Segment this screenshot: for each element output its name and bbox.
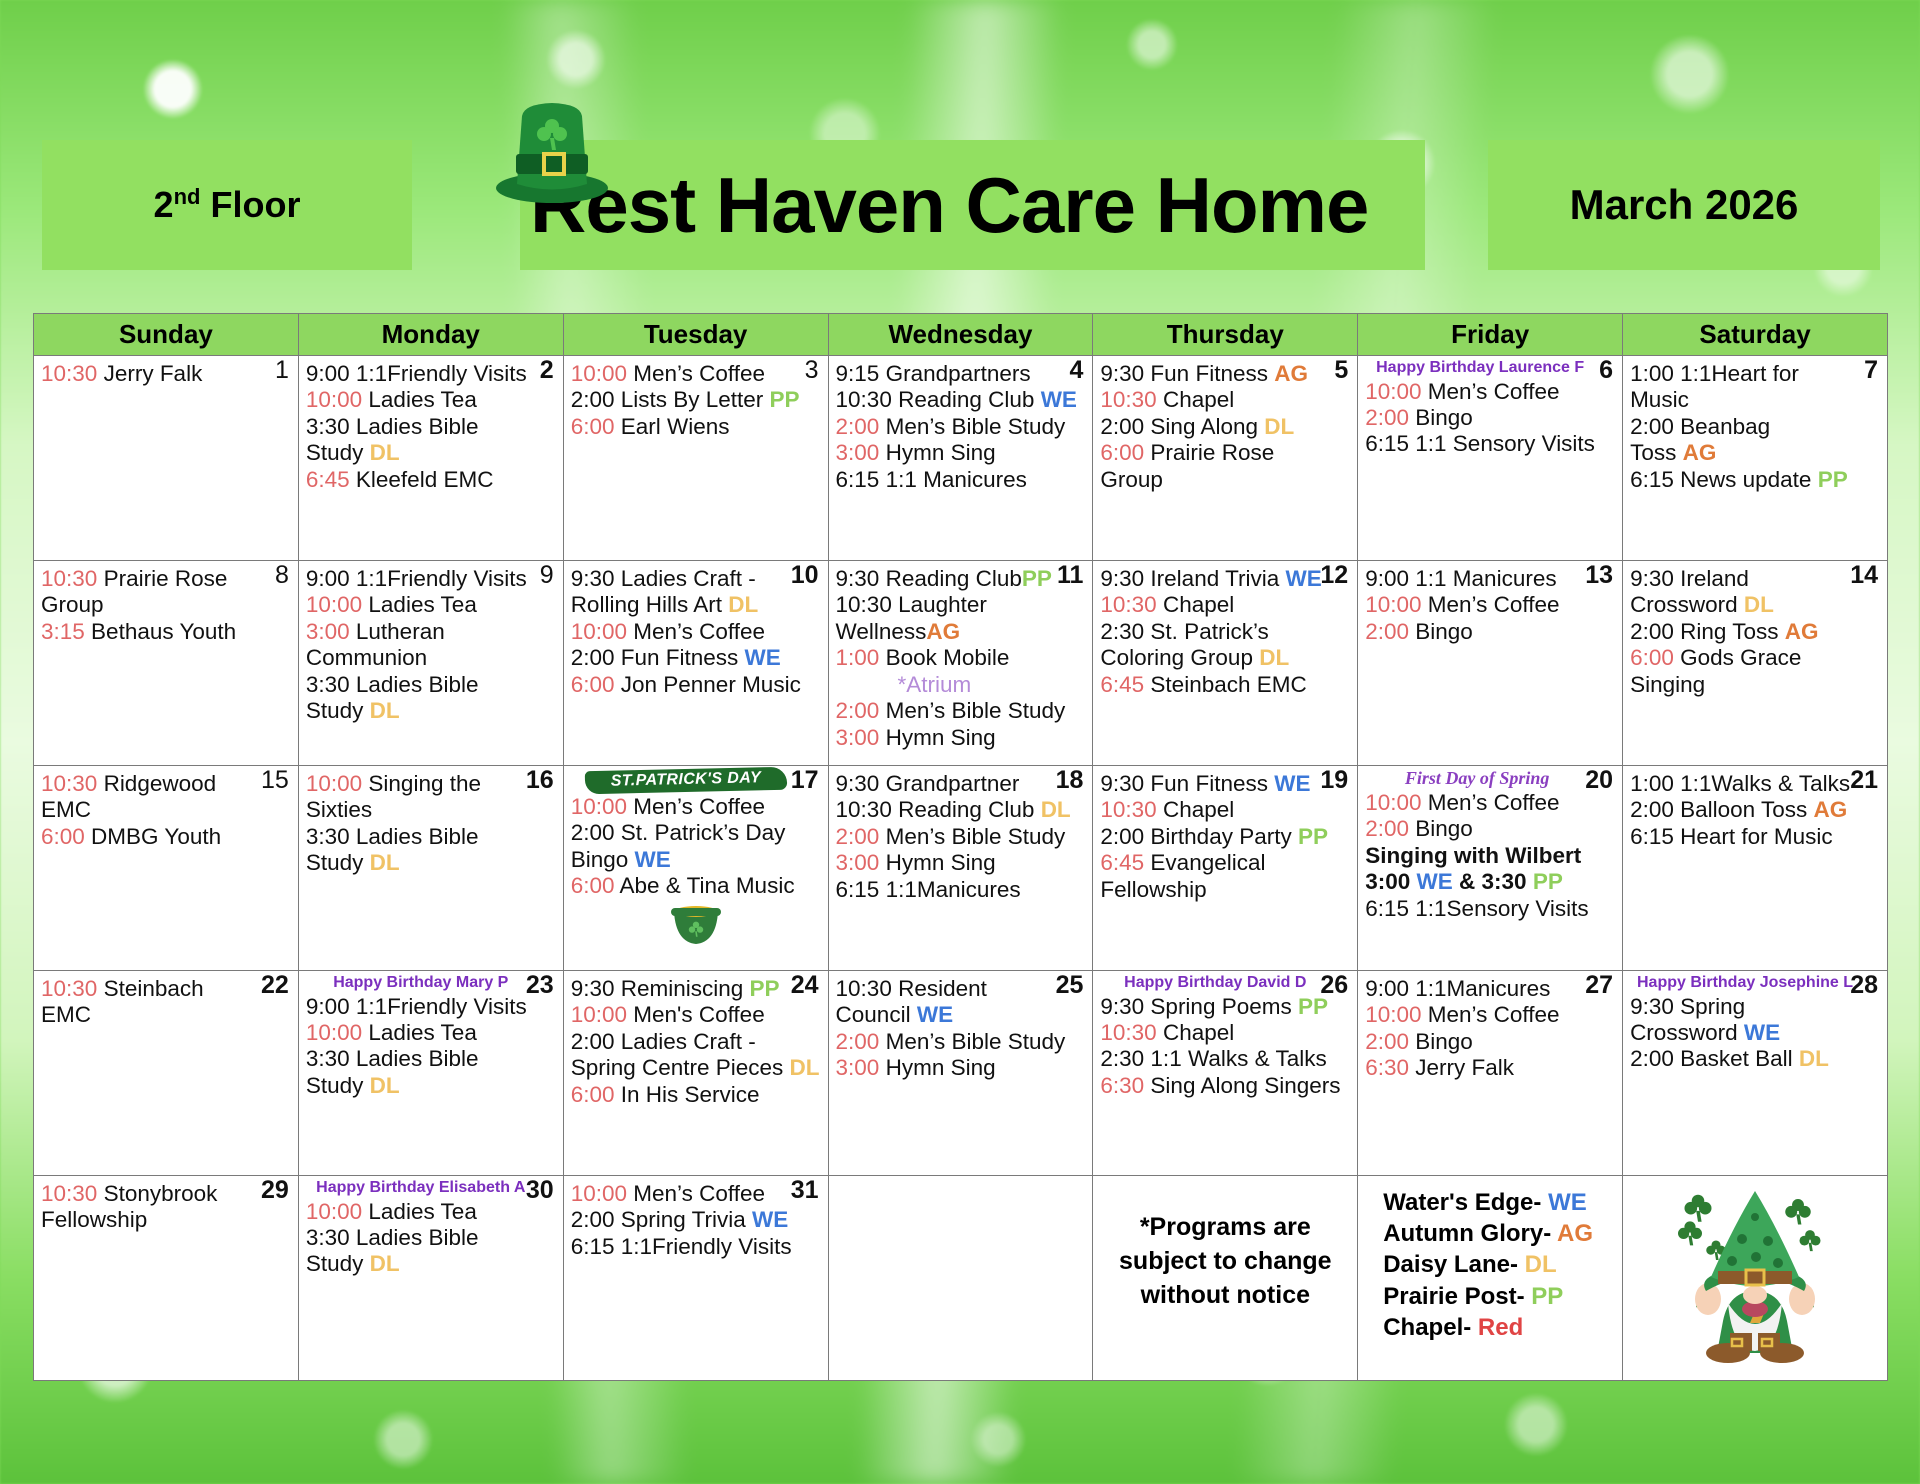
event-label: Sing Along Singers: [1144, 1073, 1340, 1098]
event-item: Council WE: [836, 1002, 1086, 1028]
event-item: 2:30 St. Patrick’s: [1100, 619, 1350, 645]
event-item: Toss AG: [1630, 440, 1880, 466]
event-label: Jon Penner Music: [614, 672, 800, 697]
event-time: 2:30: [1100, 619, 1144, 644]
event-time: 10:00: [306, 1199, 362, 1224]
event-time: 9:00: [306, 566, 350, 591]
event-time: 3:00: [836, 850, 880, 875]
calendar-day-cell-20[interactable]: First Day of Spring2010:00 Men’s Coffee2…: [1358, 766, 1623, 971]
calendar-week-row: 2210:30 Steinbach EMCHappy Birthday Mary…: [34, 971, 1888, 1176]
day-number: 26: [1320, 973, 1348, 998]
event-item: 10:30 Prairie Rose: [41, 566, 291, 592]
calendar-day-cell-1[interactable]: 110:30 Jerry Falk: [34, 356, 299, 561]
event-time: 3:15: [41, 619, 85, 644]
event-item: 10:30 Chapel: [1100, 797, 1350, 823]
calendar-day-cell-14[interactable]: 149:30 Ireland Crossword DL2:00 Ring Tos…: [1623, 561, 1888, 766]
event-item: 2:00 Men’s Bible Study: [836, 1029, 1086, 1055]
day-number: 24: [791, 973, 819, 998]
event-time: 10:00: [571, 1002, 627, 1027]
event-time: 6:00: [1630, 645, 1674, 670]
event-time: 2:00: [1630, 619, 1674, 644]
event-item: 9:00 1:1Friendly Visits: [306, 361, 556, 387]
day-number: 30: [526, 1178, 554, 1203]
event-time: 9:00: [306, 994, 350, 1019]
event-location-code: DL: [1264, 414, 1294, 439]
calendar-day-cell-16[interactable]: 1610:00 Singing the Sixties3:30 Ladies B…: [298, 766, 563, 971]
event-label: Bingo: [1409, 1029, 1473, 1054]
event-location-code: PP: [1818, 467, 1848, 492]
event-location-code: DL: [1259, 645, 1289, 670]
calendar-week-row: 2910:30 Stonybrook FellowshipHappy Birth…: [34, 1176, 1888, 1381]
day-number: 8: [275, 563, 289, 588]
event-item: 10:00 Ladies Tea: [306, 1020, 556, 1046]
notice-cell[interactable]: *Programs are subject to change without …: [1093, 1176, 1358, 1381]
event-item: 6:00 Prairie Rose: [1100, 440, 1350, 466]
calendar-day-cell-31[interactable]: 3110:00 Men’s Coffee2:00 Spring Trivia W…: [563, 1176, 828, 1381]
legend-place: Autumn Glory-: [1383, 1220, 1557, 1247]
event-location-code: WE: [1744, 1020, 1780, 1045]
event-item: 10:30 Chapel: [1100, 592, 1350, 618]
event-list: 10:30 Prairie Rose Group3:15 Bethaus You…: [41, 566, 291, 645]
calendar-day-cell-21[interactable]: 211:00 1:1Walks & Talks2:00 Balloon Toss…: [1623, 766, 1888, 971]
event-label: Toss: [1630, 440, 1683, 465]
calendar-day-cell-29[interactable]: 2910:30 Stonybrook Fellowship: [34, 1176, 299, 1381]
event-time: 6:15: [1630, 467, 1674, 492]
event-list: 10:30 Resident Council WE2:00 Men’s Bibl…: [836, 976, 1086, 1082]
st-patricks-day-badge: ST.PATRICK'S DAY: [584, 767, 786, 795]
event-item: 10:30 Laughter: [836, 592, 1086, 618]
event-time: 10:30: [41, 1181, 97, 1206]
event-label: Earl Wiens: [614, 414, 729, 439]
event-label: Reading Club: [892, 387, 1041, 412]
calendar-day-cell-8[interactable]: 810:30 Prairie Rose Group3:15 Bethaus Yo…: [34, 561, 299, 766]
event-item: 10:00 Men’s Coffee: [1365, 1002, 1615, 1028]
event-time: 9:00: [306, 361, 350, 386]
calendar-week-row: 110:30 Jerry Falk29:00 1:1Friendly Visit…: [34, 356, 1888, 561]
event-list: 9:00 1:1Manicures10:00 Men’s Coffee2:00 …: [1365, 976, 1615, 1082]
event-label: In His Service: [614, 1082, 759, 1107]
empty-cell[interactable]: [828, 1176, 1093, 1381]
day-number: 11: [1057, 563, 1083, 588]
event-time: 2:00: [1100, 414, 1144, 439]
event-list: 9:00 1:1Friendly Visits10:00 Ladies Tea3…: [306, 994, 556, 1100]
event-location-code: PP: [1298, 824, 1328, 849]
event-location-code: DL: [790, 1055, 820, 1080]
event-label: Men’s Coffee: [1422, 379, 1560, 404]
event-label: Ladies Tea: [362, 592, 477, 617]
event-item: Crossword DL: [1630, 592, 1880, 618]
event-label: 1:1 Manicures: [1409, 566, 1557, 591]
calendar-day-cell-10[interactable]: 109:30 Ladies Craft - Rolling Hills Art …: [563, 561, 828, 766]
calendar-day-cell-26[interactable]: Happy Birthday David D269:30 Spring Poem…: [1093, 971, 1358, 1176]
day-number: 5: [1334, 358, 1348, 383]
event-list: 9:30 Fun Fitness WE10:30 Chapel2:00 Birt…: [1100, 771, 1350, 903]
calendar-day-cell-25[interactable]: 2510:30 Resident Council WE2:00 Men’s Bi…: [828, 971, 1093, 1176]
calendar-header: 2nd Floor Rest Haven Care Home March 202…: [0, 140, 1920, 275]
event-label: Ladies Tea: [362, 387, 477, 412]
event-item: 10:30 Chapel: [1100, 387, 1350, 413]
weekday-header-saturday: Saturday: [1623, 314, 1888, 356]
event-location-code: WE: [635, 847, 671, 872]
event-item: 3:00 Lutheran: [306, 619, 556, 645]
event-label: Ladies Bible: [350, 414, 479, 439]
programs-notice: *Programs are subject to change without …: [1100, 1179, 1350, 1312]
event-label: Bingo: [1409, 405, 1473, 430]
event-item: WellnessAG: [836, 619, 1086, 645]
event-list: 10:00 Men’s Coffee2:00 BingoSinging with…: [1365, 790, 1615, 922]
event-label: Ireland: [1674, 566, 1749, 591]
event-item: 3:00 WE & 3:30 PP: [1365, 869, 1615, 895]
event-time: 10:30: [836, 387, 892, 412]
event-list: 10:00 Men’s Coffee2:00 Bingo6:15 1:1 Sen…: [1365, 379, 1615, 458]
event-item: 10:30 Ridgewood: [41, 771, 291, 797]
event-time: 2:00: [1630, 797, 1674, 822]
event-item: 6:15 1:1Sensory Visits: [1365, 896, 1615, 922]
event-item: 10:00 Men’s Coffee: [571, 619, 821, 645]
event-location-code: DL: [370, 1073, 400, 1098]
event-time: 2:00: [1630, 414, 1674, 439]
event-time: 6:00: [571, 1082, 615, 1107]
event-label: 1:1 Manicures: [879, 467, 1027, 492]
event-time: 6:45: [1100, 672, 1144, 697]
calendar-day-cell-17[interactable]: ST.PATRICK'S DAY1710:00 Men’s Coffee2:00…: [563, 766, 828, 971]
calendar-day-cell-19[interactable]: 199:30 Fun Fitness WE10:30 Chapel2:00 Bi…: [1093, 766, 1358, 971]
location-legend: Water's Edge- WEAutumn Glory- AGDaisy La…: [1365, 1179, 1615, 1343]
event-time: 10:30: [41, 976, 97, 1001]
event-time: 3:00: [836, 725, 880, 750]
day-number: 4: [1069, 358, 1083, 383]
event-item: 9:30 Ireland Trivia WE: [1100, 566, 1350, 592]
event-item: 6:00 In His Service: [571, 1082, 821, 1108]
event-location-code: DL: [1041, 797, 1071, 822]
calendar-day-cell-15[interactable]: 1510:30 Ridgewood EMC6:00 DMBG Youth: [34, 766, 299, 971]
event-time: 3:30: [306, 824, 350, 849]
calendar-day-cell-30[interactable]: Happy Birthday Elisabeth A3010:00 Ladies…: [298, 1176, 563, 1381]
calendar-day-cell-22[interactable]: 2210:30 Steinbach EMC: [34, 971, 299, 1176]
event-item: Fellowship: [1100, 877, 1350, 903]
event-label: Reading Club: [879, 566, 1022, 591]
event-label: 1:1Walks & Talks: [1674, 771, 1850, 796]
day-number: 3: [805, 358, 819, 383]
event-item: 10:00 Men’s Coffee: [571, 1181, 821, 1207]
event-item: Singing with Wilbert: [1365, 843, 1615, 869]
day-number: 10: [791, 563, 819, 588]
event-label: Men’s Coffee: [1422, 592, 1560, 617]
event-label: EMC: [41, 797, 91, 822]
day-number: 29: [261, 1178, 289, 1203]
event-location-code: DL: [370, 850, 400, 875]
event-item: 6:45 Kleefeld EMC: [306, 467, 556, 493]
event-time: 10:00: [306, 1020, 362, 1045]
event-item: Study DL: [306, 850, 556, 876]
event-time: 10:30: [1100, 592, 1156, 617]
weekday-header-wednesday: Wednesday: [828, 314, 1093, 356]
event-item: 10:30 Stonybrook: [41, 1181, 291, 1207]
event-time: 3:30: [306, 1225, 350, 1250]
calendar-day-cell-13[interactable]: 139:00 1:1 Manicures10:00 Men’s Coffee2:…: [1358, 561, 1623, 766]
event-label: Lists By Letter: [614, 387, 769, 412]
event-item: 6:30 Jerry Falk: [1365, 1055, 1615, 1081]
day-number: 27: [1585, 973, 1613, 998]
event-time: 2:00: [836, 698, 880, 723]
birthday-note: Happy Birthday Mary P: [306, 974, 556, 992]
event-location-code: PP: [750, 976, 780, 1001]
event-item: 6:00 Gods Grace: [1630, 645, 1880, 671]
calendar-day-cell-18[interactable]: 189:30 Grandpartner10:30 Reading Club DL…: [828, 766, 1093, 971]
calendar-day-cell-23[interactable]: Happy Birthday Mary P239:00 1:1Friendly …: [298, 971, 563, 1176]
event-time: 10:00: [571, 1181, 627, 1206]
event-label: 1:1Friendly Visits: [614, 1234, 791, 1259]
event-list: 10:00 Men’s Coffee2:00 St. Patrick’s Day…: [571, 794, 821, 900]
event-time: 6:15: [1365, 896, 1409, 921]
legend-code: DL: [1525, 1251, 1557, 1278]
birthday-note: Happy Birthday Laurence F: [1365, 359, 1615, 377]
event-item: 2:00 Bingo: [1365, 816, 1615, 842]
event-label: Spring Trivia: [614, 1207, 752, 1232]
weekday-header-friday: Friday: [1358, 314, 1623, 356]
event-item: 2:00 Ring Toss AG: [1630, 619, 1880, 645]
event-item: 10:30 Resident: [836, 976, 1086, 1002]
event-label: Grandpartners: [879, 361, 1030, 386]
calendar-day-cell-7[interactable]: 71:00 1:1Heart for Music2:00 Beanbag Tos…: [1623, 356, 1888, 561]
event-label: 1:1Manicures: [1409, 976, 1550, 1001]
event-label: Men’s Coffee: [627, 1181, 765, 1206]
event-label: Hymn Sing: [879, 440, 995, 465]
event-time: 9:00: [1365, 976, 1409, 1001]
event-item: 2:00 Lists By Letter PP: [571, 387, 821, 413]
weekday-header-monday: Monday: [298, 314, 563, 356]
weekday-header-row: SundayMondayTuesdayWednesdayThursdayFrid…: [34, 314, 1888, 356]
event-item: 2:00 Balloon Toss AG: [1630, 797, 1880, 823]
event-item: 3:15 Bethaus Youth: [41, 619, 291, 645]
event-list: 9:30 Spring Crossword WE2:00 Basket Ball…: [1630, 994, 1880, 1073]
event-label: Council: [836, 1002, 917, 1027]
event-label: Study: [306, 440, 370, 465]
event-time: 2:00: [571, 1207, 615, 1232]
event-item: 2:00 Bingo: [1365, 405, 1615, 431]
event-item: 9:30 Grandpartner: [836, 771, 1086, 797]
event-list: 9:00 1:1Friendly Visits10:00 Ladies Tea3…: [306, 361, 556, 493]
event-time: 6:30: [1365, 1055, 1409, 1080]
event-item: 10:00 Ladies Tea: [306, 592, 556, 618]
event-label: Resident: [892, 976, 987, 1001]
event-label: Singing with Wilbert: [1365, 843, 1581, 868]
event-label: Balloon Toss: [1674, 797, 1814, 822]
event-label: Lutheran: [350, 619, 445, 644]
event-item: 9:30 Reminiscing PP: [571, 976, 821, 1002]
event-time: 6:00: [571, 414, 615, 439]
event-time: 9:30: [1100, 361, 1144, 386]
event-list: 10:00 Singing the Sixties3:30 Ladies Bib…: [306, 771, 556, 877]
event-list: 10:00 Men’s Coffee2:00 Spring Trivia WE6…: [571, 1181, 821, 1260]
event-location-code: PP: [770, 387, 800, 412]
event-time: 10:30: [836, 592, 892, 617]
event-item: Music: [1630, 387, 1880, 413]
event-item: 10:00 Ladies Tea: [306, 1199, 556, 1225]
event-item: 9:00 1:1Manicures: [1365, 976, 1615, 1002]
legend-place: Chapel-: [1383, 1314, 1478, 1341]
event-label: Men’s Coffee: [627, 794, 765, 819]
event-label: Men’s Bible Study: [879, 1029, 1065, 1054]
event-item: 3:30 Ladies Bible: [306, 824, 556, 850]
event-list: 9:30 Reminiscing PP10:00 Men's Coffee2:0…: [571, 976, 821, 1108]
event-list: 1:00 1:1Walks & Talks2:00 Balloon Toss A…: [1630, 771, 1880, 850]
event-list: 10:30 Stonybrook Fellowship: [41, 1181, 291, 1234]
event-time: 10:30: [41, 771, 97, 796]
event-item: 9:30 Ireland: [1630, 566, 1880, 592]
calendar-week-row: 1510:30 Ridgewood EMC6:00 DMBG Youth1610…: [34, 766, 1888, 971]
calendar-day-cell-28[interactable]: Happy Birthday Josephine L289:30 Spring …: [1623, 971, 1888, 1176]
event-item: 2:00 Ladies Craft -: [571, 1029, 821, 1055]
event-item: 9:30 Spring Poems PP: [1100, 994, 1350, 1020]
event-list: 9:30 Ireland Trivia WE10:30 Chapel2:30 S…: [1100, 566, 1350, 698]
event-label: Sing Along: [1144, 414, 1264, 439]
event-item: 6:00 Jon Penner Music: [571, 672, 821, 698]
event-time: 6:15: [1365, 431, 1409, 456]
event-item: 6:15 News update PP: [1630, 467, 1880, 493]
event-label: Men’s Coffee: [627, 361, 765, 386]
event-time: 2:00: [1365, 405, 1409, 430]
legend-code: PP: [1531, 1283, 1563, 1310]
calendar-day-cell-3[interactable]: 310:00 Men’s Coffee2:00 Lists By Letter …: [563, 356, 828, 561]
event-label: Steinbach: [97, 976, 203, 1001]
legend-item: Autumn Glory- AG: [1383, 1218, 1615, 1249]
event-label: Fellowship: [41, 1207, 147, 1232]
event-time: 10:30: [836, 976, 892, 1001]
event-label: 3:00: [1365, 869, 1416, 894]
day-number: 9: [540, 563, 554, 588]
event-item: 6:15 1:1Manicures: [836, 877, 1086, 903]
event-label: Ladies Craft -: [614, 1029, 755, 1054]
event-label: Ladies Bible: [350, 1225, 479, 1250]
event-time: 10:30: [41, 566, 97, 591]
event-item: Group: [1100, 467, 1350, 493]
event-label: Chapel: [1157, 1020, 1235, 1045]
event-item: 6:45 Evangelical: [1100, 850, 1350, 876]
calendar-day-cell-6[interactable]: Happy Birthday Laurence F610:00 Men’s Co…: [1358, 356, 1623, 561]
event-label: DMBG Youth: [85, 824, 221, 849]
calendar-day-cell-2[interactable]: 29:00 1:1Friendly Visits10:00 Ladies Tea…: [298, 356, 563, 561]
event-label: Steinbach EMC: [1144, 672, 1307, 697]
event-time: 10:00: [1365, 1002, 1421, 1027]
event-label: Fun Fitness: [1144, 361, 1274, 386]
event-label: Men’s Coffee: [1422, 790, 1560, 815]
event-item: Bingo WE: [571, 847, 821, 873]
event-item: Study DL: [306, 440, 556, 466]
event-time: 6:15: [836, 877, 880, 902]
month-label: March 2026: [1570, 181, 1799, 229]
event-location-code: WE: [745, 645, 781, 670]
event-label: 1:1Friendly Visits: [350, 361, 527, 386]
event-item: 10:00 Men’s Coffee: [571, 361, 821, 387]
event-item: 2:00 Basket Ball DL: [1630, 1046, 1880, 1072]
event-label: Spring Poems: [1144, 994, 1298, 1019]
calendar-day-cell-4[interactable]: 49:15 Grandpartners10:30 Reading Club WE…: [828, 356, 1093, 561]
event-item: 10:00 Men’s Coffee: [1365, 790, 1615, 816]
event-time: 6:45: [1100, 850, 1144, 875]
event-item: 2:00 Men’s Bible Study: [836, 698, 1086, 724]
legend-cell[interactable]: Water's Edge- WEAutumn Glory- AGDaisy La…: [1358, 1176, 1623, 1381]
event-label: 1:1 Sensory Visits: [1409, 431, 1595, 456]
event-label: Kleefeld EMC: [350, 467, 494, 492]
calendar-day-cell-11[interactable]: 119:30 Reading ClubPP10:30 Laughter Well…: [828, 561, 1093, 766]
weekday-header-tuesday: Tuesday: [563, 314, 828, 356]
event-label: Men’s Bible Study: [879, 698, 1065, 723]
event-location-code: WE: [1041, 387, 1077, 412]
event-list: 9:30 Grandpartner10:30 Reading Club DL2:…: [836, 771, 1086, 903]
event-location-code: PP: [1022, 566, 1052, 591]
event-label: Ridgewood: [97, 771, 216, 796]
event-label: Fellowship: [1100, 877, 1206, 902]
event-label: News update: [1674, 467, 1818, 492]
event-time: 9:30: [836, 771, 880, 796]
event-item: 6:15 Heart for Music: [1630, 824, 1880, 850]
event-item: 6:15 1:1 Manicures: [836, 467, 1086, 493]
calendar-day-cell-12[interactable]: 129:30 Ireland Trivia WE10:30 Chapel2:30…: [1093, 561, 1358, 766]
calendar-week-row: 810:30 Prairie Rose Group3:15 Bethaus Yo…: [34, 561, 1888, 766]
day-number: 21: [1850, 768, 1878, 793]
calendar-day-cell-9[interactable]: 99:00 1:1Friendly Visits10:00 Ladies Tea…: [298, 561, 563, 766]
event-item: 2:00 Birthday Party PP: [1100, 824, 1350, 850]
day-number: 25: [1056, 973, 1084, 998]
day-number: 16: [526, 768, 554, 793]
calendar-day-cell-27[interactable]: 279:00 1:1Manicures10:00 Men’s Coffee2:0…: [1358, 971, 1623, 1176]
event-location-code: PP: [1533, 869, 1563, 894]
event-list: 9:30 Ireland Crossword DL2:00 Ring Toss …: [1630, 566, 1880, 698]
event-item: 6:00 DMBG Youth: [41, 824, 291, 850]
event-time: 3:00: [836, 440, 880, 465]
event-item: 3:00 Hymn Sing: [836, 440, 1086, 466]
event-label: Basket Ball: [1674, 1046, 1799, 1071]
event-time: 3:30: [306, 414, 350, 439]
event-label: 1:1Sensory Visits: [1409, 896, 1589, 921]
event-item: 1:00 Book Mobile *Atrium: [836, 645, 1086, 698]
event-label: Prairie Rose: [1144, 440, 1274, 465]
event-label: Fun Fitness: [614, 645, 744, 670]
event-list: 10:30 Ridgewood EMC6:00 DMBG Youth: [41, 771, 291, 850]
event-item: 6:15 1:1Friendly Visits: [571, 1234, 821, 1260]
event-item: 10:30 Reading Club WE: [836, 387, 1086, 413]
event-label: St. Patrick’s Day: [614, 820, 785, 845]
event-item: 2:00 Spring Trivia WE: [571, 1207, 821, 1233]
event-label: Grandpartner: [879, 771, 1019, 796]
event-label: Birthday Party: [1144, 824, 1298, 849]
event-label: & 3:30: [1453, 869, 1533, 894]
event-time: 9:30: [1630, 994, 1674, 1019]
calendar-body: 110:30 Jerry Falk29:00 1:1Friendly Visit…: [34, 356, 1888, 1381]
calendar-day-cell-5[interactable]: 59:30 Fun Fitness AG10:30 Chapel2:00 Sin…: [1093, 356, 1358, 561]
gnome-cell[interactable]: [1623, 1176, 1888, 1381]
day-number: 2: [540, 358, 554, 383]
event-label: 1:1Heart for: [1674, 361, 1799, 386]
event-time: 9:30: [836, 566, 880, 591]
weekday-header-sunday: Sunday: [34, 314, 299, 356]
event-item: 9:15 Grandpartners: [836, 361, 1086, 387]
event-item: 9:00 1:1Friendly Visits: [306, 994, 556, 1020]
event-time: 3:00: [836, 1055, 880, 1080]
event-item: 9:30 Fun Fitness AG: [1100, 361, 1350, 387]
event-item: 2:00 Sing Along DL: [1100, 414, 1350, 440]
leprechaun-hat-icon: [492, 96, 612, 206]
legend-code: AG: [1557, 1220, 1593, 1247]
event-item: Spring Centre Pieces DL: [571, 1055, 821, 1081]
calendar-day-cell-24[interactable]: 249:30 Reminiscing PP10:00 Men's Coffee2…: [563, 971, 828, 1176]
event-item: 2:00 Men’s Bible Study: [836, 824, 1086, 850]
activity-calendar: SundayMondayTuesdayWednesdayThursdayFrid…: [33, 313, 1888, 1381]
event-item: 2:00 Bingo: [1365, 619, 1615, 645]
event-time: 9:30: [1100, 566, 1144, 591]
birthday-note: Happy Birthday Elisabeth A: [306, 1179, 556, 1197]
